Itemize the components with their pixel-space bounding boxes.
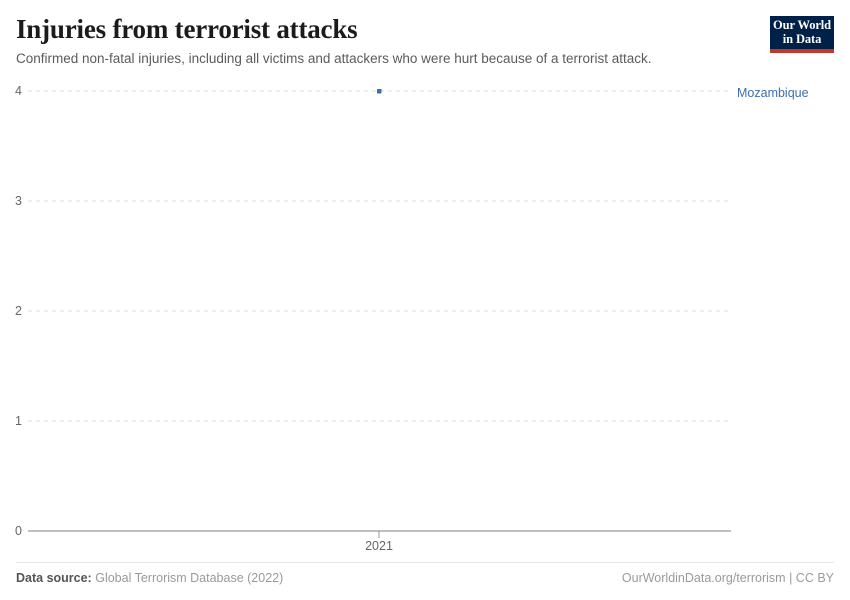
our-world-in-data-logo[interactable]: Our World in Data <box>770 16 834 53</box>
data-point-mozambique-2021[interactable] <box>377 89 382 94</box>
chart-footer: Data source: Global Terrorism Database (… <box>16 568 834 588</box>
chart-svg: 4 3 2 1 0 2021 Mozambique <box>0 0 850 600</box>
chart-subtitle: Confirmed non-fatal injuries, including … <box>16 50 756 68</box>
logo-line-1: Our World <box>770 19 834 33</box>
data-source-label: Data source: <box>16 571 92 585</box>
x-tick-label-2021: 2021 <box>365 539 393 553</box>
y-tick-label-4: 4 <box>15 84 22 98</box>
y-tick-label-1: 1 <box>15 414 22 428</box>
chart-header: Injuries from terrorist attacks Confirme… <box>16 12 756 68</box>
gridlines <box>28 91 731 421</box>
data-source-value: Global Terrorism Database (2022) <box>95 571 283 585</box>
y-tick-label-0: 0 <box>15 524 22 538</box>
plot-area: 4 3 2 1 0 2021 Mozambique <box>0 0 850 600</box>
page-title: Injuries from terrorist attacks <box>16 12 756 46</box>
data-source: Data source: Global Terrorism Database (… <box>16 571 283 585</box>
logo-line-2: in Data <box>770 33 834 47</box>
y-tick-label-3: 3 <box>15 194 22 208</box>
attribution-link[interactable]: OurWorldinData.org/terrorism | CC BY <box>622 571 834 585</box>
series-label-mozambique[interactable]: Mozambique <box>737 86 809 100</box>
owid-chart: Injuries from terrorist attacks Confirme… <box>0 0 850 600</box>
footer-divider <box>16 562 834 563</box>
y-tick-label-2: 2 <box>15 304 22 318</box>
